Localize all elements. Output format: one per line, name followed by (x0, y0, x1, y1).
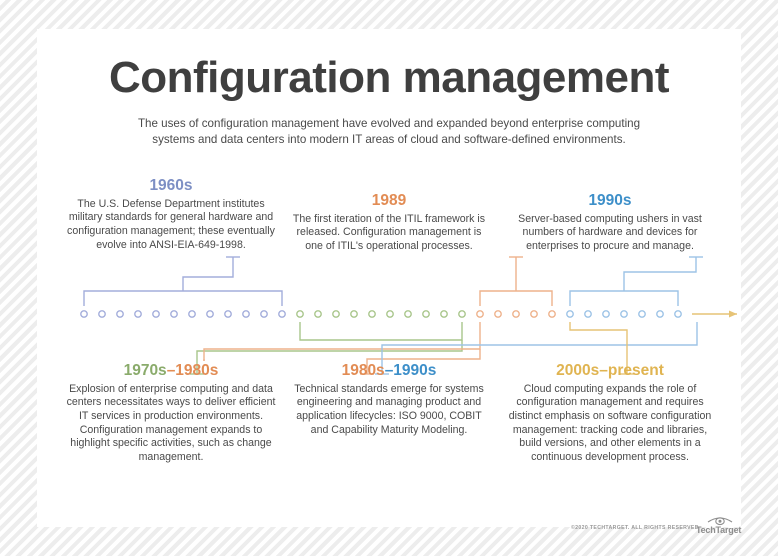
event-heading-1970s-1980s: 1970s–1980s (65, 362, 277, 380)
event-body-1960s: The U.S. Defense Department institutes m… (65, 198, 277, 252)
event-block-1980s-1990s: 1980s–1990s Technical standards emerge f… (287, 362, 491, 437)
event-body-1990s: Server-based computing ushers in vast nu… (502, 213, 718, 254)
event-body-1970s-1980s: Explosion of enterprise computing and da… (65, 383, 277, 465)
event-heading-1989: 1989 (287, 192, 491, 210)
copyright-text: ©2020 TECHTARGET. ALL RIGHTS RESERVED (571, 525, 699, 531)
event-heading-2000s-present: 2000s–present (502, 362, 718, 380)
event-heading-1990s: 1990s (502, 192, 718, 210)
event-block-1989: 1989 The first iteration of the ITIL fra… (287, 192, 491, 254)
techtarget-logo: TechTarget (696, 513, 750, 539)
techtarget-logo-text: TechTarget (696, 525, 741, 535)
event-heading-1960s: 1960s (65, 177, 277, 195)
event-block-1970s-1980s: 1970s–1980s Explosion of enterprise comp… (65, 362, 277, 464)
infographic-card: Configuration management The uses of con… (37, 29, 741, 527)
heading-part-1970s: 1970s (124, 362, 167, 379)
event-body-1980s-1990s: Technical standards emerge for systems e… (287, 383, 491, 437)
event-body-2000s-present: Cloud computing expands the role of conf… (502, 383, 718, 465)
event-block-1990s: 1990s Server-based computing ushers in v… (502, 192, 718, 254)
event-block-1960s: 1960s The U.S. Defense Department instit… (65, 177, 277, 252)
heading-part-1980s: –1980s (167, 362, 219, 379)
heading-part-1990s: –1990s (385, 362, 437, 379)
event-block-2000s-present: 2000s–present Cloud computing expands th… (502, 362, 718, 464)
heading-part-1980s: 1980s (342, 362, 385, 379)
event-body-1989: The first iteration of the ITIL framewor… (287, 213, 491, 254)
event-heading-1980s-1990s: 1980s–1990s (287, 362, 491, 380)
